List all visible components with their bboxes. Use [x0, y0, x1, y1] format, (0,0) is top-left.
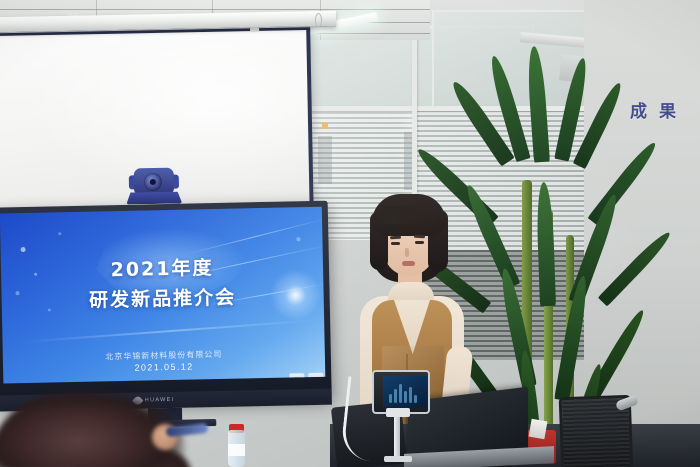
ceiling-seam — [0, 9, 430, 10]
camera-lens-center — [150, 179, 156, 185]
stream-waveform-bar — [389, 394, 392, 403]
presenter-eyebrow — [414, 235, 425, 238]
tripod-foot — [384, 456, 412, 462]
plant-leaf — [536, 182, 556, 306]
presenter-nose — [405, 248, 409, 257]
photo-scene: 成 果 — [0, 0, 700, 467]
tripod-stem — [394, 410, 400, 458]
presenter-eye — [391, 242, 400, 245]
display-screen[interactable]: 2021年度 研发新品推介会 北京华锦新材料股份有限公司 2021.05.12 — [0, 207, 325, 384]
video-conference-camera — [126, 168, 183, 209]
camera-base — [126, 192, 182, 205]
wall-sign-char-2: 果 — [659, 102, 676, 124]
presenter-eye — [415, 241, 424, 244]
stream-waveform-bar — [399, 384, 402, 403]
bottle-label — [228, 444, 245, 456]
roller-hook — [315, 13, 322, 27]
slide-light-streak — [23, 319, 322, 343]
stream-waveform-bar — [409, 387, 412, 403]
smartphone-screen[interactable] — [383, 376, 427, 407]
slide-bokeh-dot — [58, 232, 61, 235]
presenter-mouth — [402, 261, 415, 266]
stream-waveform-bar — [414, 395, 417, 403]
plant-leaf — [526, 46, 550, 163]
stream-waveform-bar — [394, 389, 397, 403]
phone-clamp — [386, 408, 410, 417]
stream-waveform-bar — [404, 391, 407, 403]
slide-bokeh-dot — [21, 247, 26, 252]
slide-bokeh-dot — [296, 237, 300, 241]
smartphone-tripod-rig[interactable] — [368, 370, 428, 467]
plant-leaf — [587, 139, 660, 226]
paper-tag — [529, 419, 548, 440]
